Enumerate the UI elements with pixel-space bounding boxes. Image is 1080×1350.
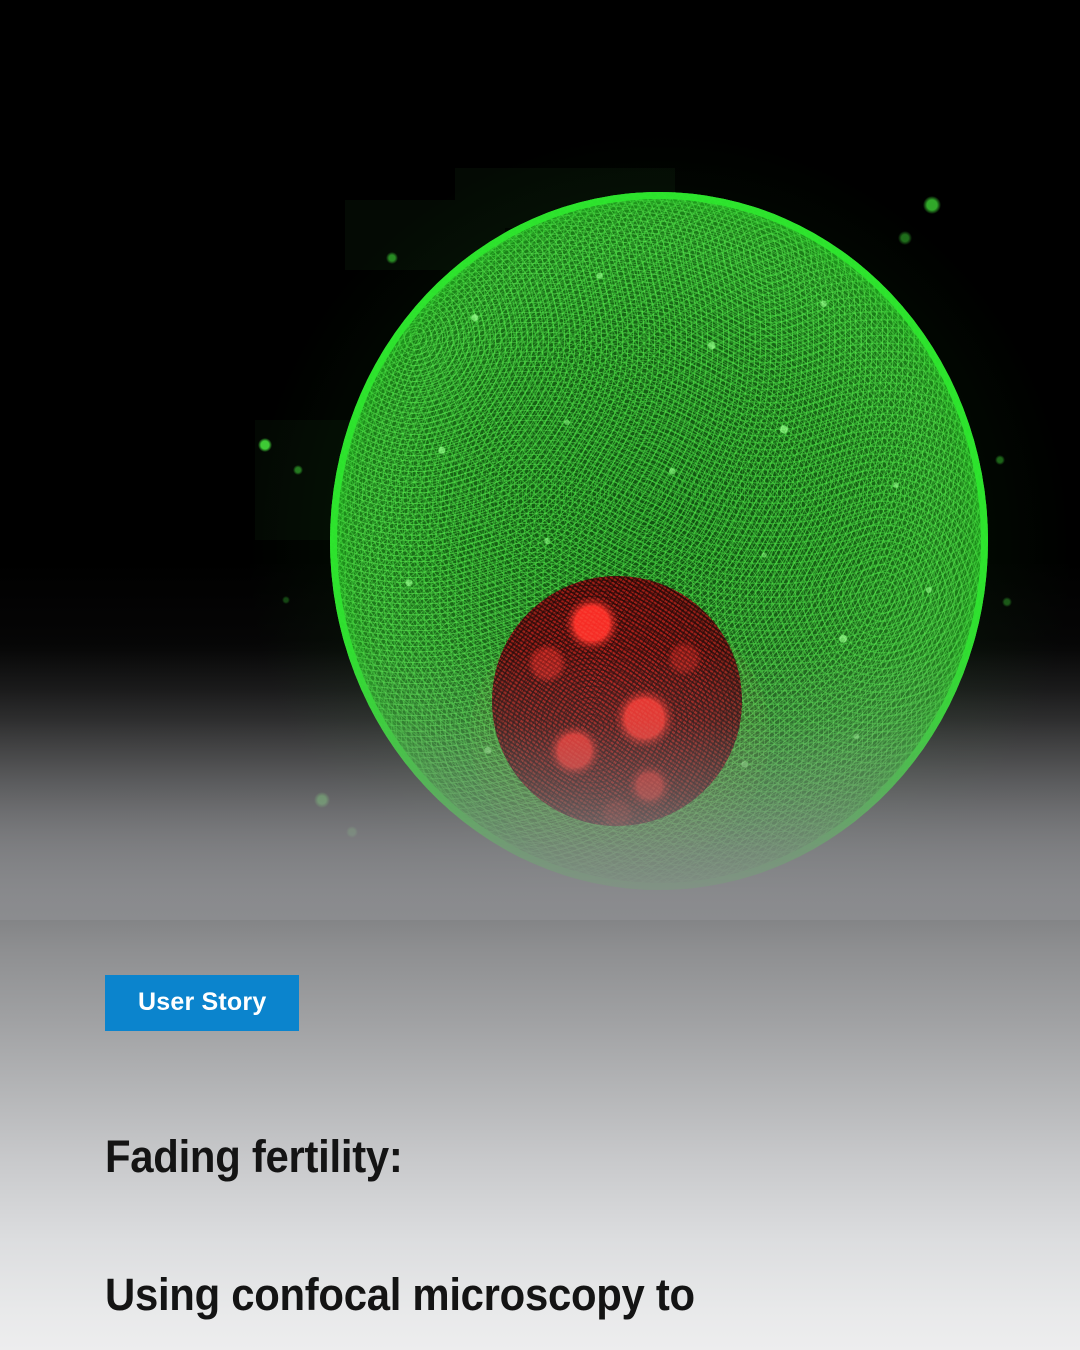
- category-badge[interactable]: User Story: [105, 975, 299, 1031]
- poster-card: User Story Fading fertility: Using confo…: [0, 0, 1080, 1350]
- micrograph-image: [0, 0, 1080, 920]
- caption-block: User Story Fading fertility: Using confo…: [105, 975, 965, 1350]
- page-title-line-2: Using confocal microscopy to: [105, 1272, 905, 1318]
- page-title-line-1: Fading fertility:: [105, 1134, 905, 1180]
- extracellular-debris-specks: [0, 0, 1080, 920]
- page-title: Fading fertility: Using confocal microsc…: [105, 1042, 905, 1350]
